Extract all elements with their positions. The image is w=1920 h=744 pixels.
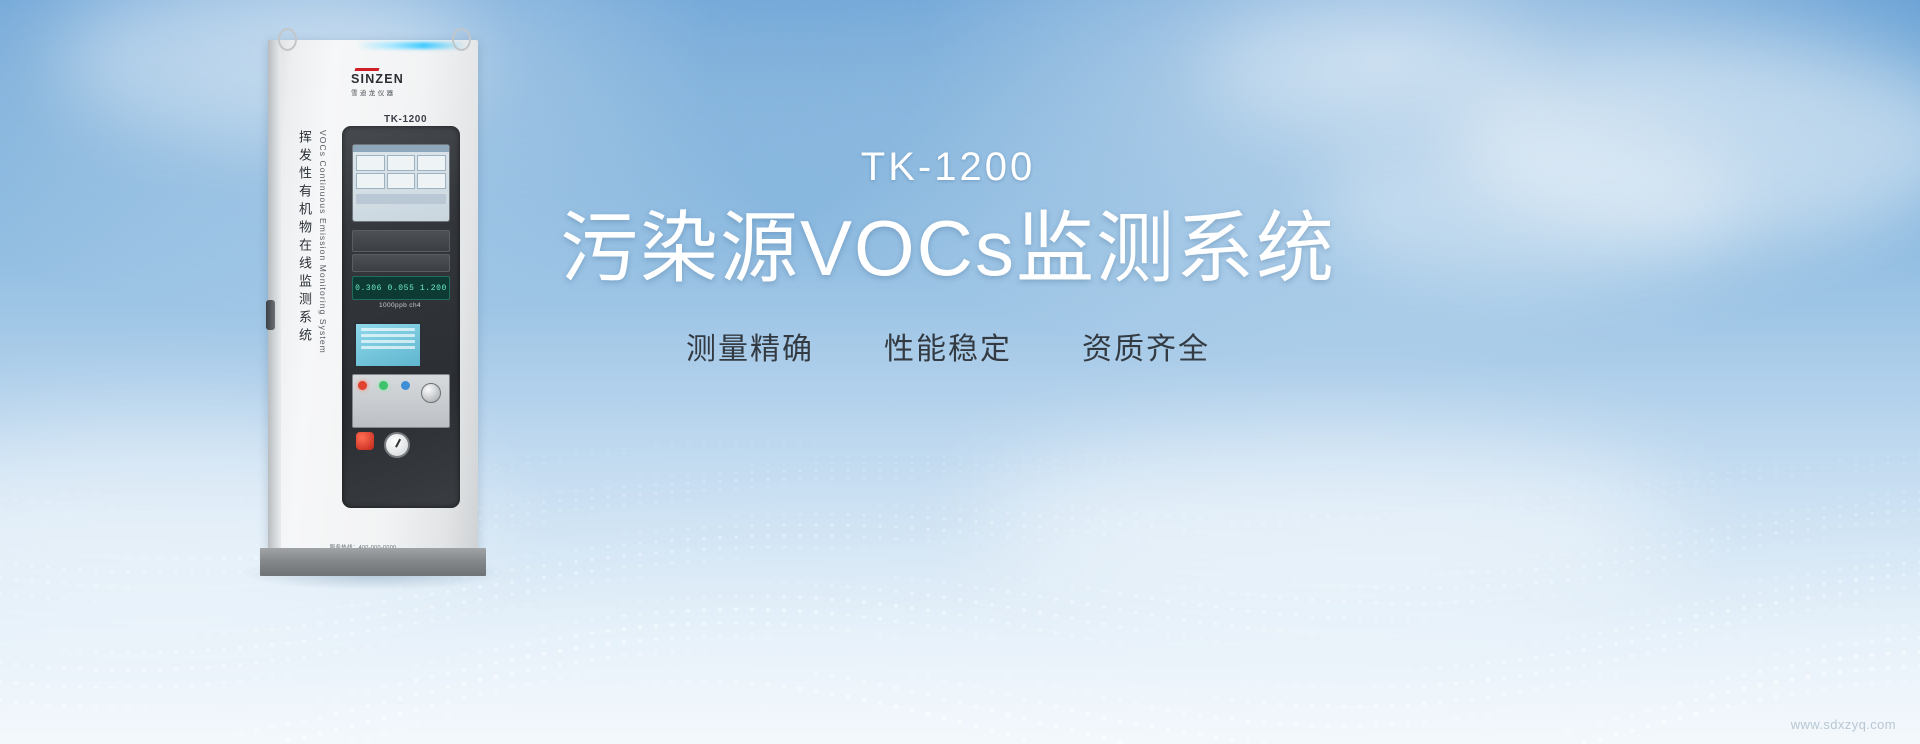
cabinet-left-edge [268, 40, 281, 552]
hmi-tile [387, 155, 416, 171]
control-knob [421, 383, 441, 403]
tagline-item: 性能稳定 [884, 324, 1012, 368]
product-hero-banner: SINZEN 雪迪龙仪器 TK-1200 挥发性有机物在线监测系统 VOCs C… [0, 0, 1920, 744]
status-led-red [358, 381, 367, 390]
sinzen-logo: SINZEN 雪迪龙仪器 [351, 68, 404, 97]
analyzer-module [352, 254, 450, 272]
product-model-heading: TK-1200 [548, 140, 1348, 194]
cabinet-base-plinth [260, 548, 486, 576]
cabinet-top-glow [356, 42, 466, 49]
hmi-tile [417, 173, 446, 189]
lcd-line [361, 328, 415, 331]
cabinet-vertical-label-cn: 挥发性有机物在线监测系统 [294, 130, 312, 346]
cabinet-instrument-window: 0.306 0.055 1.200 1000ppb ch4 [342, 126, 460, 508]
status-led-blue [401, 381, 410, 390]
tagline-list: 测量精确 性能稳定 资质齐全 [548, 324, 1348, 368]
control-panel [352, 374, 450, 428]
emergency-stop-button [356, 432, 374, 450]
cabinet-model-label: TK-1200 [384, 114, 427, 125]
cabinet-door-handle [266, 300, 275, 330]
logo-brand-name-cn: 雪迪龙仪器 [351, 87, 404, 97]
status-led-green [379, 381, 388, 390]
hmi-footer-bar [356, 194, 446, 204]
analyzer-module [352, 230, 450, 252]
digital-readout: 0.306 0.055 1.200 [352, 276, 450, 300]
hmi-tile [387, 173, 416, 189]
cabinet-vertical-label-en: VOCs Continuous Emission Monitoring Syst… [318, 130, 328, 354]
lcd-line [361, 334, 415, 337]
pressure-gauge-icon [384, 432, 410, 458]
logo-brand-name: SINZEN [351, 73, 404, 86]
lcd-line [361, 340, 415, 343]
hmi-title-bar [353, 145, 449, 152]
digital-readout-units: 1000ppb ch4 [352, 302, 448, 309]
lift-ring-icon [278, 28, 297, 51]
cloud-blob [1200, 10, 1540, 130]
hmi-tile [356, 155, 385, 171]
lift-ring-icon [452, 28, 471, 51]
product-cabinet-image: SINZEN 雪迪龙仪器 TK-1200 挥发性有机物在线监测系统 VOCs C… [258, 22, 488, 582]
site-watermark: www.sdxzyq.com [1791, 717, 1896, 732]
tagline-item: 资质齐全 [1082, 324, 1210, 368]
lcd-content [356, 324, 420, 356]
tagline-item: 测量精确 [686, 324, 814, 368]
hmi-tile-grid [353, 152, 449, 192]
cloud-blob [1320, 130, 1740, 280]
lcd-display [354, 322, 422, 368]
page-title: 污染源VOCs监测系统 [548, 200, 1348, 296]
logo-red-bar [354, 68, 379, 71]
hmi-tile [417, 155, 446, 171]
hero-text-block: TK-1200 污染源VOCs监测系统 测量精确 性能稳定 资质齐全 [548, 140, 1348, 368]
lcd-line [361, 346, 415, 349]
hmi-touchscreen [352, 144, 450, 222]
hmi-tile [356, 173, 385, 189]
